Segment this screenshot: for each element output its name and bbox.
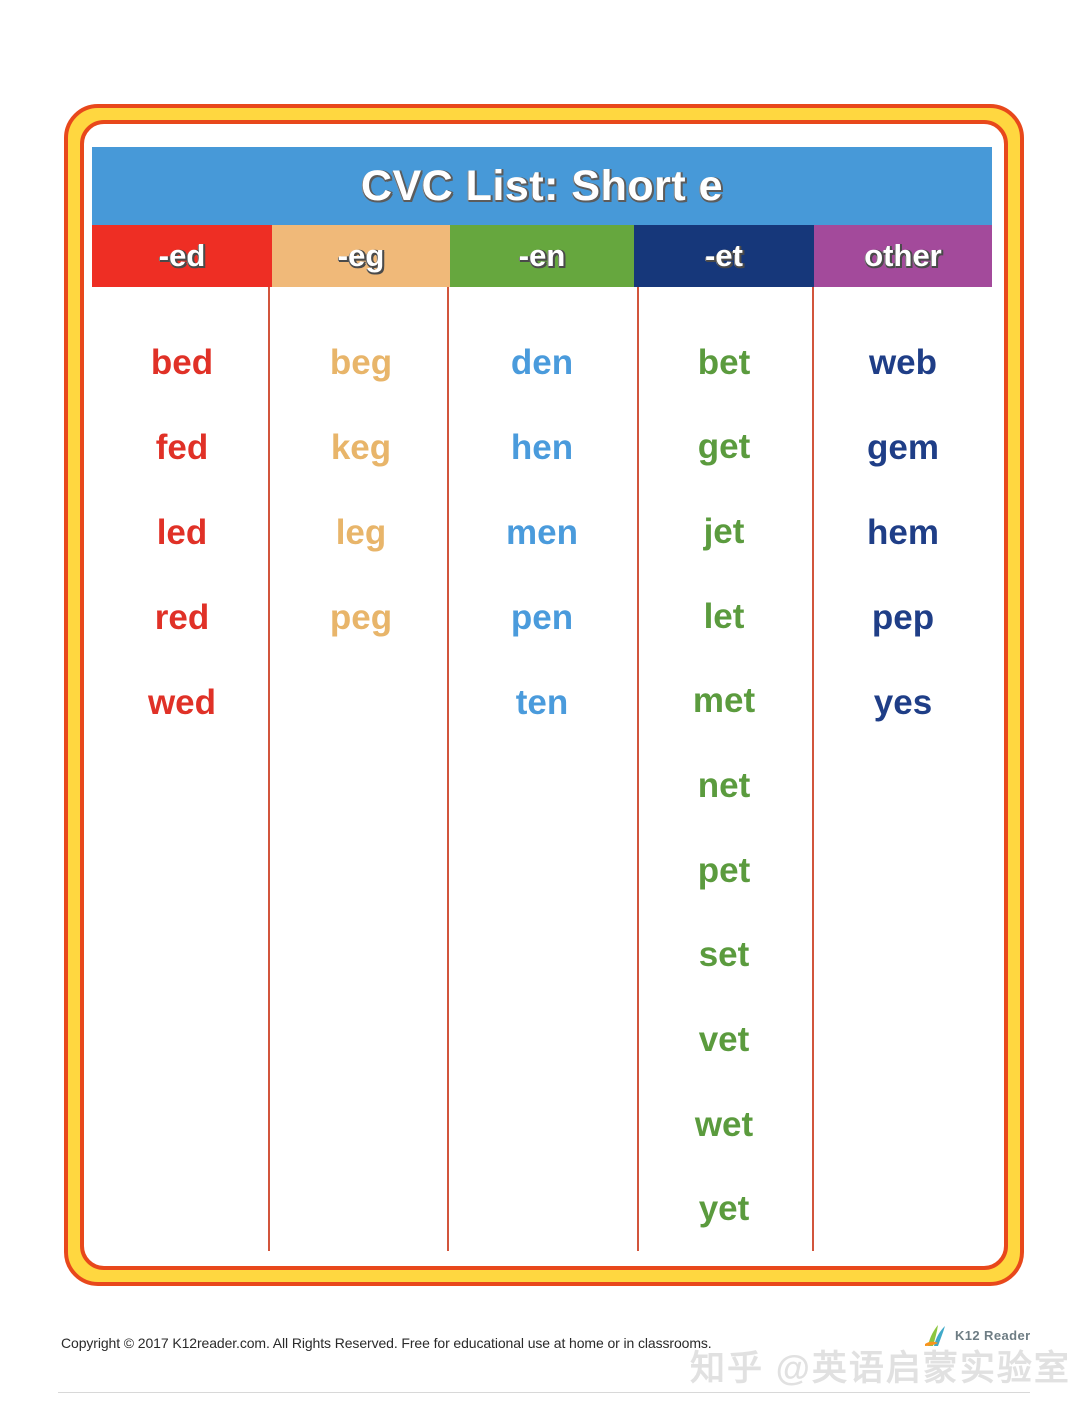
word-item: jet <box>704 489 745 574</box>
word-item: hem <box>867 490 939 575</box>
word-item: led <box>157 490 208 575</box>
word-column-other: webgemhempepyes <box>814 287 992 1251</box>
word-item: wet <box>695 1082 753 1167</box>
word-item: vet <box>699 997 750 1082</box>
column-header-label: -eg <box>338 238 385 274</box>
word-item: gem <box>867 405 939 490</box>
copyright-text: Copyright © 2017 K12reader.com. All Righ… <box>61 1335 712 1351</box>
word-item: pep <box>872 575 934 660</box>
word-item: leg <box>336 490 387 575</box>
word-item: ten <box>516 660 569 745</box>
word-item: beg <box>330 320 392 405</box>
word-item: den <box>511 320 573 405</box>
column-header-label: -ed <box>159 238 206 274</box>
cvc-list-card: CVC List: Short e -ed-eg-en-etother bedf… <box>92 147 992 1251</box>
word-item: yet <box>699 1166 750 1251</box>
page-title: CVC List: Short e <box>361 162 723 211</box>
word-item: bed <box>151 320 213 405</box>
title-bar: CVC List: Short e <box>92 147 992 225</box>
column-header-eg: -eg <box>272 225 450 287</box>
word-item: fed <box>156 405 209 490</box>
word-item: pet <box>698 828 751 913</box>
footer: Copyright © 2017 K12reader.com. All Righ… <box>0 1330 1088 1406</box>
word-item: men <box>506 490 578 575</box>
word-column-eg: begkeglegpeg <box>272 287 450 1251</box>
word-column-en: denhenmenpenten <box>450 287 634 1251</box>
column-header-label: -et <box>705 238 743 274</box>
word-item: pen <box>511 575 573 660</box>
word-item: hen <box>511 405 573 490</box>
word-item: let <box>704 574 745 659</box>
word-item: bet <box>698 320 751 405</box>
column-header-ed: -ed <box>92 225 272 287</box>
word-column-et: betgetjetletmetnetpetsetvetwetyet <box>634 287 814 1251</box>
word-item: net <box>698 743 751 828</box>
column-header-label: -en <box>519 238 566 274</box>
leaf-icon <box>925 1322 953 1348</box>
word-item: keg <box>331 405 391 490</box>
word-item: get <box>698 405 751 490</box>
word-item: peg <box>330 575 392 660</box>
column-header-en: -en <box>450 225 634 287</box>
word-item: met <box>693 659 755 744</box>
k12reader-logo-text: K12 Reader <box>955 1328 1031 1343</box>
word-columns-area: bedfedledredwedbegkeglegpegdenhenmenpent… <box>92 287 992 1251</box>
k12reader-logo: K12 Reader <box>925 1320 1035 1354</box>
column-header-other: other <box>814 225 992 287</box>
word-column-ed: bedfedledredwed <box>92 287 272 1251</box>
footer-divider <box>58 1392 1030 1393</box>
column-header-label: other <box>864 238 942 274</box>
word-item: wed <box>148 660 216 745</box>
column-header-row: -ed-eg-en-etother <box>92 225 992 287</box>
word-item: red <box>155 575 209 660</box>
column-header-et: -et <box>634 225 814 287</box>
word-item: yes <box>874 660 932 745</box>
word-item: web <box>869 320 937 405</box>
word-item: set <box>699 912 750 997</box>
